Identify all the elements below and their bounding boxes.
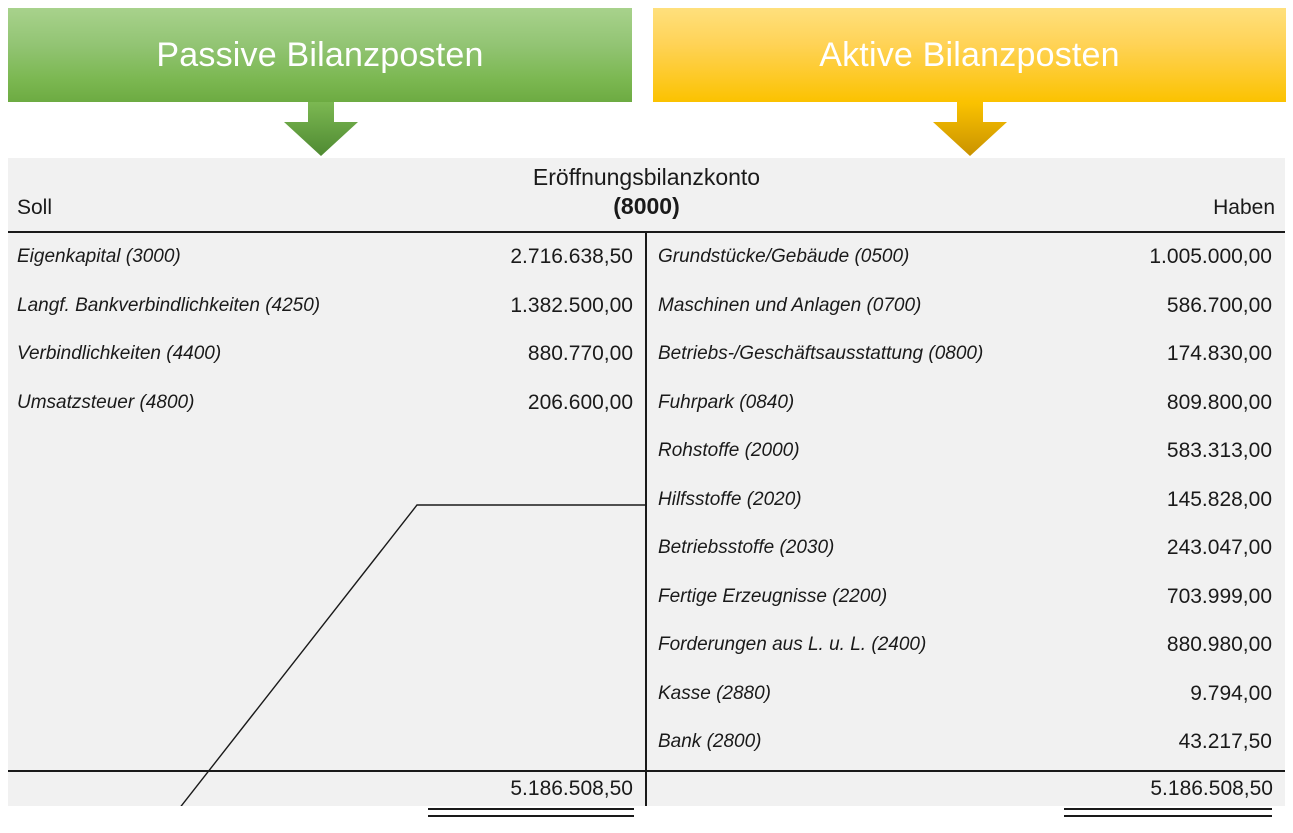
credit-entry-column: Grundstücke/Gebäude (0500)1.005.000,00Ma… xyxy=(647,233,1284,767)
entry-label: Betriebs-/Geschäftsausstattung (0800) xyxy=(658,343,983,365)
credit-entry-row: Rohstoffe (2000)583.313,00 xyxy=(647,427,1284,476)
entry-amount: 145.828,00 xyxy=(1167,488,1272,512)
column-header-haben: Haben xyxy=(1213,196,1275,220)
credit-entry-row: Betriebsstoffe (2030)243.047,00 xyxy=(647,524,1284,573)
account-title: Eröffnungsbilanzkonto xyxy=(8,164,1285,190)
account-header: Eröffnungsbilanzkonto (8000) Soll Haben xyxy=(8,158,1285,231)
entry-amount: 1.005.000,00 xyxy=(1149,245,1272,269)
credit-entry-row: Kasse (2880)9.794,00 xyxy=(647,670,1284,719)
entry-label: Forderungen aus L. u. L. (2400) xyxy=(658,634,926,656)
account-number: (8000) xyxy=(8,193,1285,219)
entry-amount: 243.047,00 xyxy=(1167,536,1272,560)
entry-amount: 1.382.500,00 xyxy=(510,294,633,318)
banner-passive-label: Passive Bilanzposten xyxy=(156,38,483,72)
entry-amount: 809.800,00 xyxy=(1167,391,1272,415)
entry-label: Verbindlichkeiten (4400) xyxy=(17,343,221,365)
entry-label: Umsatzsteuer (4800) xyxy=(17,392,194,414)
entry-amount: 703.999,00 xyxy=(1167,585,1272,609)
debit-entry-row: Langf. Bankverbindlichkeiten (4250)1.382… xyxy=(8,282,645,331)
credit-entry-row: Maschinen und Anlagen (0700)586.700,00 xyxy=(647,282,1284,331)
total-credit-amount: 5.186.508,50 xyxy=(1150,777,1273,801)
column-header-soll: Soll xyxy=(17,196,52,220)
entry-label: Hilfsstoffe (2020) xyxy=(658,489,802,511)
entry-label: Maschinen und Anlagen (0700) xyxy=(658,295,921,317)
double-underline-debit xyxy=(428,808,634,817)
entry-amount: 583.313,00 xyxy=(1167,439,1272,463)
entry-label: Eigenkapital (3000) xyxy=(17,246,181,268)
banner-aktive-bilanzposten: Aktive Bilanzposten xyxy=(653,8,1286,102)
credit-entry-row: Fertige Erzeugnisse (2200)703.999,00 xyxy=(647,573,1284,622)
entry-amount: 43.217,50 xyxy=(1179,730,1272,754)
entry-amount: 2.716.638,50 xyxy=(510,245,633,269)
credit-entry-row: Hilfsstoffe (2020)145.828,00 xyxy=(647,476,1284,525)
entry-label: Rohstoffe (2000) xyxy=(658,440,800,462)
double-underline-credit xyxy=(1064,808,1272,817)
credit-entry-row: Grundstücke/Gebäude (0500)1.005.000,00 xyxy=(647,233,1284,282)
credit-entry-row: Bank (2800)43.217,50 xyxy=(647,718,1284,767)
t-account-eroeffnungsbilanzkonto: Eröffnungsbilanzkonto (8000) Soll Haben … xyxy=(8,158,1285,806)
entry-amount: 9.794,00 xyxy=(1190,682,1272,706)
entry-label: Kasse (2880) xyxy=(658,683,771,705)
debit-entry-row: Verbindlichkeiten (4400)880.770,00 xyxy=(8,330,645,379)
credit-entry-row: Forderungen aus L. u. L. (2400)880.980,0… xyxy=(647,621,1284,670)
entry-amount: 880.770,00 xyxy=(528,342,633,366)
entry-amount: 586.700,00 xyxy=(1167,294,1272,318)
banner-passive-bilanzposten: Passive Bilanzposten xyxy=(8,8,632,102)
down-arrow-icon-passive xyxy=(283,102,359,157)
entry-amount: 174.830,00 xyxy=(1167,342,1272,366)
total-credit-cell: 5.186.508,50 xyxy=(647,771,1285,806)
entry-amount: 880.980,00 xyxy=(1167,633,1272,657)
entry-label: Langf. Bankverbindlichkeiten (4250) xyxy=(17,295,320,317)
total-debit-amount: 5.186.508,50 xyxy=(510,777,633,801)
entry-label: Grundstücke/Gebäude (0500) xyxy=(658,246,909,268)
credit-entry-row: Betriebs-/Geschäftsausstattung (0800)174… xyxy=(647,330,1284,379)
banner-aktive-label: Aktive Bilanzposten xyxy=(819,38,1120,72)
entry-label: Betriebsstoffe (2030) xyxy=(658,537,834,559)
entry-label: Fertige Erzeugnisse (2200) xyxy=(658,586,887,608)
entry-label: Fuhrpark (0840) xyxy=(658,392,794,414)
entry-amount: 206.600,00 xyxy=(528,391,633,415)
debit-entry-column: Eigenkapital (3000)2.716.638,50Langf. Ba… xyxy=(8,233,645,427)
debit-entry-row: Eigenkapital (3000)2.716.638,50 xyxy=(8,233,645,282)
down-arrow-icon-aktive xyxy=(932,102,1008,157)
entry-label: Bank (2800) xyxy=(658,731,762,753)
credit-entry-row: Fuhrpark (0840)809.800,00 xyxy=(647,379,1284,428)
total-debit-cell: 5.186.508,50 xyxy=(8,771,645,806)
debit-entry-row: Umsatzsteuer (4800)206.600,00 xyxy=(8,379,645,428)
